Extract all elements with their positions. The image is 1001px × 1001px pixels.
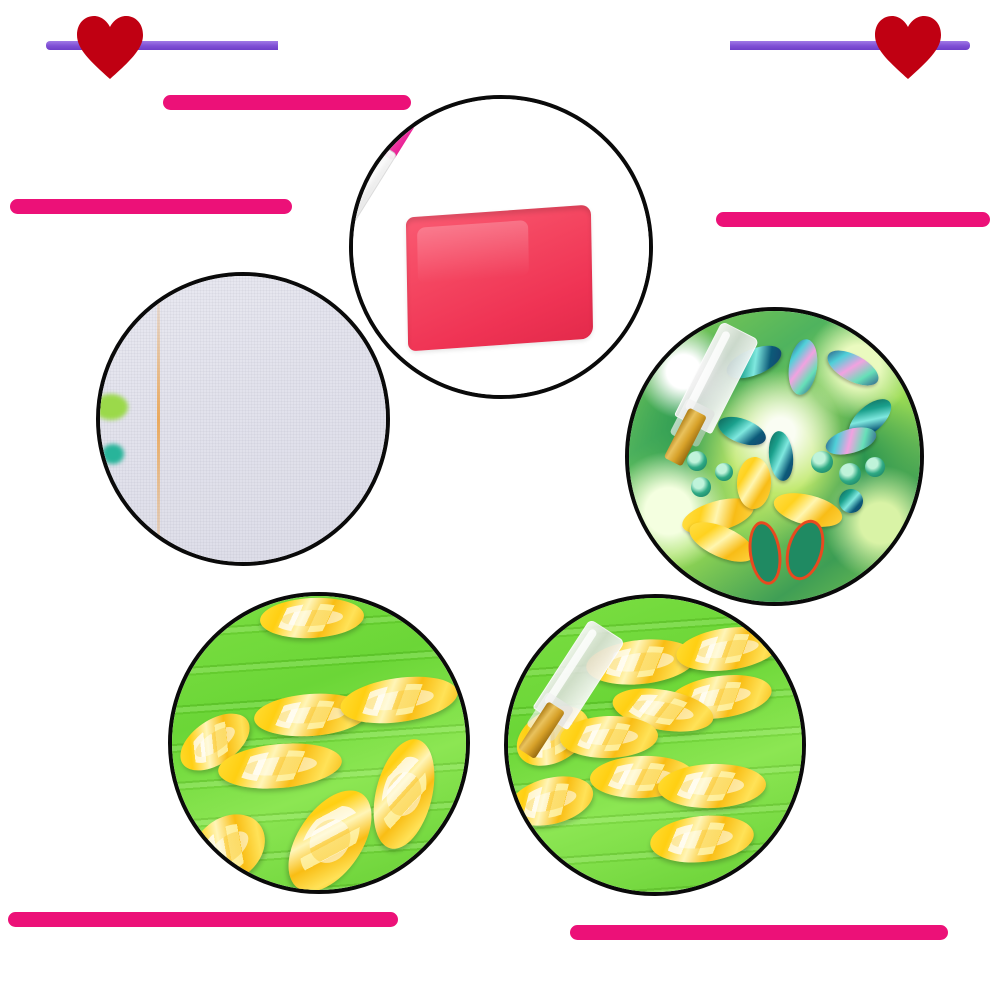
step-3-photo (168, 592, 470, 894)
step-3-label (8, 912, 398, 927)
pen-picking-up-diamond-image (508, 598, 802, 892)
step-5-label (716, 212, 990, 227)
step-2-photo (96, 272, 390, 566)
page-title-background (278, 14, 730, 64)
pen-dipping-into-gel-image (353, 99, 649, 395)
step-4-label (570, 925, 948, 940)
step-4-photo (504, 594, 806, 896)
diamonds-in-tray-image (172, 596, 466, 890)
infographic-page (0, 0, 1001, 1001)
step-1-photo (349, 95, 653, 399)
color-chart-image (100, 276, 386, 562)
press-diamond-onto-symbol-image (629, 311, 920, 602)
heart-icon (872, 13, 944, 81)
step-5-photo (625, 307, 924, 606)
heart-icon (74, 13, 146, 81)
gel-pad (406, 205, 593, 352)
step-2-label (10, 199, 292, 214)
page-header (0, 0, 1001, 82)
